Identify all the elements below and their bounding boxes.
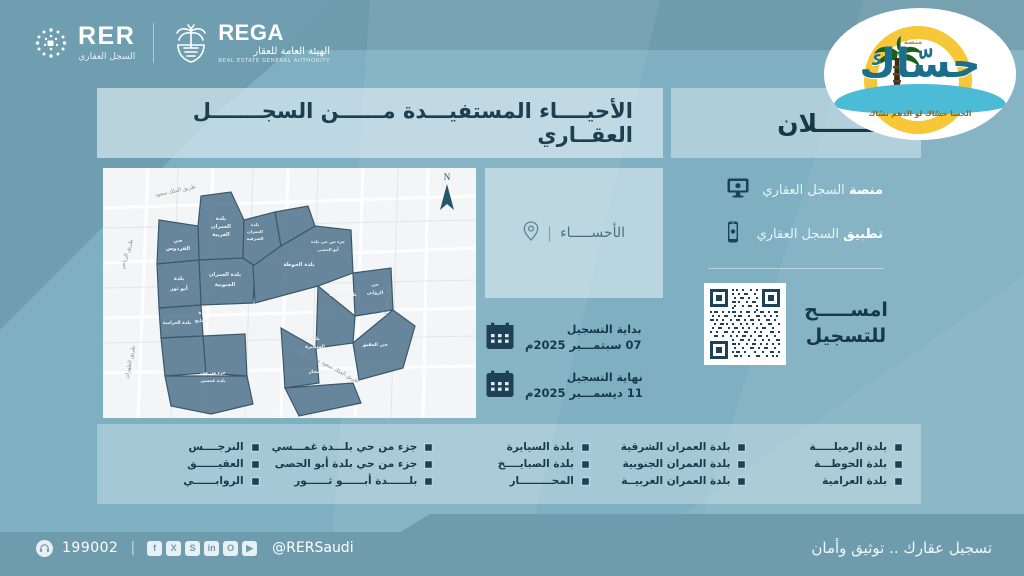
registration-dates: بداية التسجيل 07 سبتمـــبر 2025م (485, 306, 663, 418)
district-label: بلدة السيايرة (507, 441, 574, 453)
rer-arabic-name: السجل العقاري (78, 52, 135, 62)
rega-english-name: REAL ESTATE GENERAL AUTHORITY (218, 58, 330, 64)
district-label: بلدة الرميلـــــة (809, 441, 887, 453)
svg-text:بلدة: بلدة (199, 311, 208, 316)
app-label-rest: السجل العقاري (757, 227, 844, 242)
youtube-icon[interactable]: ▶ (242, 541, 257, 556)
district-label: جزء من حي بلـــدة غمـــسي (272, 441, 418, 453)
district-label: بلدة العرامية (822, 475, 887, 487)
district-column-1: النرجــــس العقيــــــق الروابــــــي (109, 441, 266, 487)
x-twitter-icon[interactable]: X (166, 541, 181, 556)
svg-text:العمران: العمران (211, 224, 231, 230)
svg-text:بلدة: بلدة (174, 276, 184, 282)
registration-start-value: 07 سبتمـــبر 2025م (525, 338, 642, 354)
bullet-icon (894, 477, 903, 486)
info-column: الأحســـــاء | بداية التسجيل 07 سبتمـــب… (485, 168, 663, 418)
list-item[interactable]: النرجــــس (115, 441, 260, 453)
district-label: النرجــــس (188, 441, 243, 453)
registration-end-row: نهاية التسجيل 11 ديسمـــبر 2025م (485, 369, 657, 403)
registration-end-value: 11 ديسمـــبر 2025م (525, 386, 643, 402)
hassak-wordmark: حسّاك (824, 44, 1016, 84)
mobile-app-row[interactable]: تطبيق السجل العقاري (671, 212, 921, 256)
qr-label: امســـــح للتسجيل (804, 298, 888, 349)
district-label: جزء من حي بلدة أبو الحصى (275, 458, 418, 470)
district-column-4: بلدة العمران الشرقية بلدة العمران الجنوب… (596, 441, 753, 487)
poster-root: RER السجل العقاري (0, 0, 1024, 576)
district-label: بلدة الحوطـــة (814, 458, 887, 470)
hassak-tagline: الحسا حسّاك لو الدهم نسّاك (824, 109, 1016, 118)
rer-dots-logo-icon (34, 26, 68, 60)
social-links: f X S in O ▶ (147, 541, 257, 556)
instagram-icon[interactable]: O (223, 541, 238, 556)
list-item[interactable]: بلدة الحوطـــة (758, 458, 903, 470)
location-pin-icon (523, 221, 539, 245)
list-item[interactable]: العقيــــــق (115, 458, 260, 470)
linkedin-icon[interactable]: in (204, 541, 219, 556)
bullet-icon (424, 443, 433, 452)
district-list: النرجــــس العقيــــــق الروابــــــي جز… (97, 424, 921, 504)
district-label: بلدة الصبايــــخ (498, 458, 574, 470)
svg-text:بلدة غمسي: بلدة غمسي (201, 379, 226, 384)
svg-text:حي العقيق: حي العقيق (362, 342, 388, 348)
platform-label: منصة السجل العقاري (762, 183, 883, 198)
svg-text:بلدة العرامية: بلدة العرامية (163, 321, 192, 326)
list-item[interactable]: الروابــــــي (115, 475, 260, 487)
svg-text:السيايرة: السيايرة (305, 344, 325, 350)
list-item[interactable]: بلدة العمران الغربيــة (602, 475, 747, 487)
app-label-bold: تطبيق (843, 227, 883, 242)
bullet-icon (424, 477, 433, 486)
svg-text:الجنوبية: الجنوبية (215, 282, 236, 288)
hassak-platform-logo: منصة حسّاك الحسا حسّاك لو الدهم نسّاك (824, 8, 1016, 140)
location-name: الأحســـــاء (560, 225, 625, 241)
north-arrow-icon: N (434, 172, 460, 218)
footer-separator: | (130, 540, 135, 556)
mobile-icon (721, 220, 745, 248)
district-label: بلدة العمران الغربيــة (621, 475, 730, 487)
qr-code-icon[interactable] (704, 283, 786, 365)
platform-label-bold: منصة (849, 183, 883, 198)
list-item[interactable]: بلدة الرميلـــــة (758, 441, 903, 453)
north-letter: N (434, 172, 460, 182)
svg-text:أبو الحصى: أبو الحصى (317, 246, 339, 252)
svg-text:جزء من حي بلدة: جزء من حي بلدة (311, 239, 345, 244)
logo-divider (153, 23, 154, 63)
list-item[interactable]: المحـــــــــار (445, 475, 590, 487)
list-item[interactable]: بلدة العمران الشرقية (602, 441, 747, 453)
bullet-icon (894, 443, 903, 452)
district-label: العقيــــــق (187, 458, 243, 470)
bullet-icon (737, 460, 746, 469)
footer-contact: 199002 | f X S in O ▶ @RERSaudi (36, 540, 354, 557)
svg-text:الصبايخ: الصبايخ (195, 319, 212, 324)
monitor-icon (726, 176, 750, 204)
svg-text:العمران: العمران (247, 229, 263, 234)
bullet-icon (251, 443, 260, 452)
calendar-icon (485, 369, 515, 403)
bullet-icon (251, 477, 260, 486)
calendar-icon (485, 321, 515, 355)
list-item[interactable]: جزء من حي بلـــدة غمـــسي (272, 441, 434, 453)
location-separator: | (547, 224, 552, 242)
footer-tagline: تسجيل عقارك .. توثيق وأمان (811, 539, 992, 557)
qr-label-line2: للتسجيل (804, 324, 888, 350)
rega-logo: REGA الهيئة العامة للعقار REAL ESTATE GE… (172, 22, 330, 64)
registration-end-label: نهاية التسجيل (525, 371, 643, 386)
svg-text:حي المحار: حي المحار (308, 369, 334, 375)
svg-text:حي: حي (173, 238, 182, 244)
footer-bar: 199002 | f X S in O ▶ @RERSaudi تسجيل عق… (0, 520, 1024, 576)
district-column-5: بلدة الرميلـــــة بلدة الحوطـــة بلدة ال… (752, 441, 909, 487)
panel-divider (708, 268, 884, 269)
list-item[interactable]: بلدة الصبايــــخ (445, 458, 590, 470)
rer-logo: RER السجل العقاري (34, 24, 135, 62)
page-title-panel: الأحيــــاء المستفيـــدة مــــــن السجــ… (97, 88, 663, 158)
support-headset-icon (36, 540, 53, 557)
district-label: بلدة العمران الجنوبية (622, 458, 730, 470)
svg-text:بلدة: بلدة (251, 222, 260, 227)
qr-scan-block[interactable]: امســـــح للتسجيل (671, 283, 921, 365)
rega-palm-mark-icon (172, 23, 210, 63)
bullet-icon (737, 443, 746, 452)
svg-text:الروابي: الروابي (367, 291, 384, 296)
list-item[interactable]: بلدة السيايرة (445, 441, 590, 453)
location-card: الأحســـــاء | (485, 168, 663, 298)
list-item[interactable]: جزء من حي بلدة أبو الحصى (272, 458, 434, 470)
contact-number[interactable]: 199002 (62, 540, 118, 556)
district-column-3: بلدة السيايرة بلدة الصبايــــخ المحـــــ… (439, 441, 596, 487)
bullet-icon (737, 477, 746, 486)
svg-text:جزء من حي: جزء من حي (200, 371, 225, 376)
svg-text:بلدة: بلدة (216, 216, 226, 222)
district-map[interactable]: طريق الملك سعود طريق الرياض طريق الظهران… (103, 168, 476, 418)
social-handle[interactable]: @RERSaudi (272, 540, 353, 556)
list-item[interactable]: بلدة العرامية (758, 475, 903, 487)
svg-text:الفردوس: الفردوس (166, 246, 190, 252)
bullet-icon (251, 460, 260, 469)
bullet-icon (581, 443, 590, 452)
svg-text:حي: حي (371, 283, 379, 288)
svg-text:الشرقية: الشرقية (247, 236, 264, 241)
district-label: بلدة العمران الشرقية (621, 441, 731, 453)
qr-label-line1: امســـــح (804, 298, 888, 324)
rer-wordmark: RER (78, 24, 135, 49)
svg-text:بلدة الحوطة: بلدة الحوطة (283, 262, 314, 268)
rega-arabic-name: الهيئة العامة للعقار (218, 46, 330, 57)
page-title: الأحيــــاء المستفيـــدة مــــــن السجــ… (97, 99, 633, 147)
platform-label-rest: السجل العقاري (762, 183, 849, 198)
app-label: تطبيق السجل العقاري (757, 227, 883, 242)
platform-row[interactable]: منصة السجل العقاري (671, 168, 921, 212)
district-label: بلــــــدة أبــــــو ثــــــور (294, 475, 417, 487)
list-item[interactable]: بلدة العمران الجنوبية (602, 458, 747, 470)
facebook-icon[interactable]: f (147, 541, 162, 556)
svg-text:بلدة: بلدة (310, 336, 320, 342)
svg-text:الغربية: الغربية (212, 232, 230, 238)
district-label: المحـــــــــار (509, 475, 573, 487)
bullet-icon (581, 477, 590, 486)
registration-start-label: بداية التسجيل (525, 323, 642, 338)
bullet-icon (424, 460, 433, 469)
svg-text:بلدة الرميلة: بلدة الرميلة (329, 292, 356, 298)
rega-wordmark: REGA (218, 22, 330, 44)
svg-text:أبو ثور: أبو ثور (169, 284, 188, 292)
bullet-icon (581, 460, 590, 469)
list-item[interactable]: بلــــــدة أبــــــو ثــــــور (272, 475, 434, 487)
registration-channels-panel: منصة السجل العقاري تطبيق السجل العقاري (671, 168, 921, 418)
bullet-icon (894, 460, 903, 469)
snapchat-icon[interactable]: S (185, 541, 200, 556)
registration-start-row: بداية التسجيل 07 سبتمـــبر 2025م (485, 321, 657, 355)
svg-text:بلدة العمران: بلدة العمران (209, 272, 241, 278)
district-label: الروابــــــي (183, 475, 243, 487)
district-column-2: جزء من حي بلـــدة غمـــسي جزء من حي بلدة… (266, 441, 440, 487)
